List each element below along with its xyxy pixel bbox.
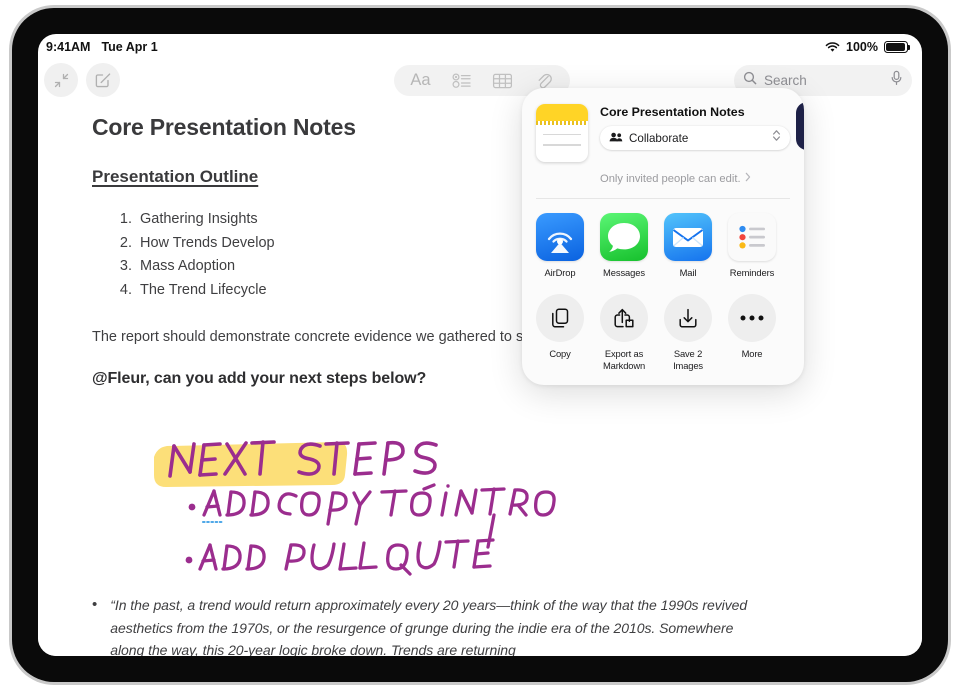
share-app-label: Mail	[664, 267, 712, 278]
share-apps-row[interactable]: AirDrop Messages	[522, 199, 804, 278]
battery-icon	[884, 41, 908, 53]
action-copy[interactable]: Copy	[536, 294, 584, 372]
screen: 9:41AM Tue Apr 1 100%	[38, 34, 922, 656]
action-label: Save 2 Images	[664, 348, 712, 372]
chevron-right-icon	[745, 172, 751, 185]
permission-text: Only invited people can edit.	[600, 173, 741, 185]
quote-bullet: •	[92, 594, 97, 656]
export-share-icon	[600, 294, 648, 342]
share-actions-row[interactable]: Copy Export as Markdown	[522, 278, 804, 372]
action-export-markdown[interactable]: Export as Markdown	[600, 294, 648, 372]
compose-icon[interactable]	[86, 63, 120, 97]
format-aa-label: Aa	[410, 71, 430, 90]
messages-icon	[600, 213, 648, 261]
share-app-label: Messages	[600, 267, 648, 278]
collaborate-label: Collaborate	[629, 132, 766, 145]
microphone-icon[interactable]	[890, 70, 903, 91]
chevron-up-down-icon	[772, 129, 781, 147]
airdrop-icon	[536, 213, 584, 261]
battery-percent: 100%	[846, 40, 878, 54]
mail-icon	[664, 213, 712, 261]
table-icon[interactable]	[486, 68, 520, 94]
section-heading: Presentation Outline	[92, 167, 258, 187]
download-icon	[664, 294, 712, 342]
status-bar: 9:41AM Tue Apr 1 100%	[38, 34, 922, 60]
device-frame: 9:41AM Tue Apr 1 100%	[0, 0, 960, 690]
quote-text: “In the past, a trend would return appro…	[110, 594, 752, 656]
quote-block: • “In the past, a trend would return app…	[92, 594, 752, 656]
people-icon	[609, 129, 623, 147]
action-more[interactable]: More	[728, 294, 776, 372]
reminders-icon	[728, 213, 776, 261]
checklist-icon[interactable]	[445, 68, 479, 94]
action-label: More	[728, 348, 776, 360]
more-ellipsis-icon	[728, 294, 776, 342]
share-sheet-header: Core Presentation Notes Collaborate	[522, 88, 804, 162]
format-aa-icon[interactable]: Aa	[404, 68, 438, 94]
share-sheet-title: Core Presentation Notes	[600, 105, 790, 119]
share-app-label: Reminders	[728, 267, 776, 278]
search-placeholder: Search	[764, 73, 883, 88]
collapse-arrows-icon[interactable]	[44, 63, 78, 97]
action-label: Export as Markdown	[600, 348, 648, 372]
share-app-reminders[interactable]: Reminders	[728, 213, 776, 278]
note-thumbnail-icon	[536, 104, 588, 162]
share-sheet[interactable]: Core Presentation Notes Collaborate	[522, 88, 804, 385]
copy-icon	[536, 294, 584, 342]
partial-app-icon[interactable]	[796, 102, 804, 150]
status-date: Tue Apr 1	[101, 40, 157, 54]
action-save-images[interactable]: Save 2 Images	[664, 294, 712, 372]
handwritten-annotation[interactable]	[148, 429, 568, 614]
share-app-mail[interactable]: Mail	[664, 213, 712, 278]
share-app-airdrop[interactable]: AirDrop	[536, 213, 584, 278]
share-app-label: AirDrop	[536, 267, 584, 278]
permission-row[interactable]: Only invited people can edit.	[522, 162, 804, 185]
collaborate-dropdown[interactable]: Collaborate	[600, 126, 790, 150]
share-app-messages[interactable]: Messages	[600, 213, 648, 278]
status-time: 9:41AM	[46, 40, 90, 54]
wifi-icon	[825, 42, 840, 53]
action-label: Copy	[536, 348, 584, 360]
